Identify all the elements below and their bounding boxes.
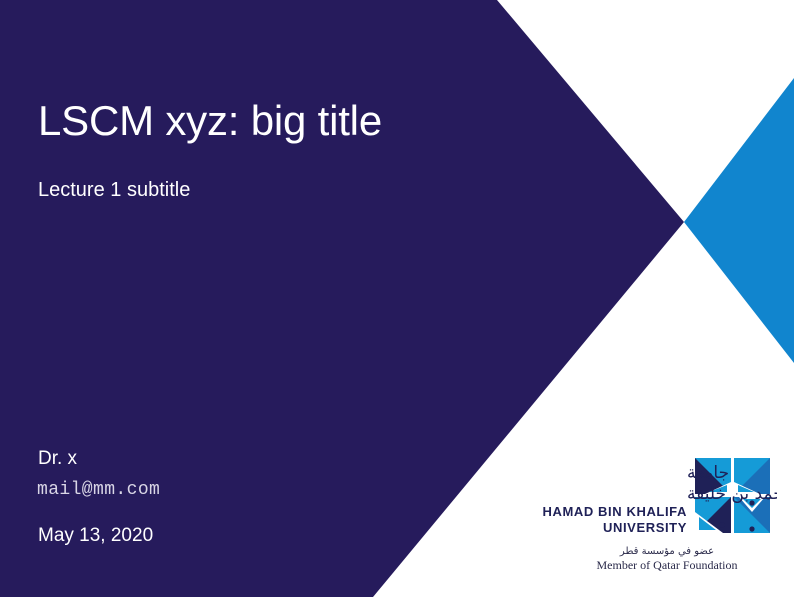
logo-footer-arabic: عضو في مؤسسة قطر xyxy=(619,546,714,557)
logo-english-line-1: HAMAD BIN KHALIFA xyxy=(542,504,687,519)
logo-arabic-line-2: حمد بن خليفة xyxy=(687,484,777,504)
title-slide: LSCM xyz: big title Lecture 1 subtitle D… xyxy=(0,0,794,597)
logo-english-line-2: UNIVERSITY xyxy=(603,520,687,535)
logo-arabic-line-1: جامعة xyxy=(687,463,729,483)
author-name: Dr. x xyxy=(38,448,77,470)
page-title: LSCM xyz: big title xyxy=(38,99,382,143)
presentation-date: May 13, 2020 xyxy=(38,525,153,547)
logo-footer-english: Member of Qatar Foundation xyxy=(597,558,738,572)
author-email[interactable]: mail@mm.com xyxy=(37,480,160,500)
page-subtitle: Lecture 1 subtitle xyxy=(38,179,190,201)
hbku-logo: جامعة حمد بن خليفة HAMAD BIN KHALIFA UNI… xyxy=(527,452,777,587)
title-text-block: LSCM xyz: big title Lecture 1 subtitle D… xyxy=(0,0,560,597)
